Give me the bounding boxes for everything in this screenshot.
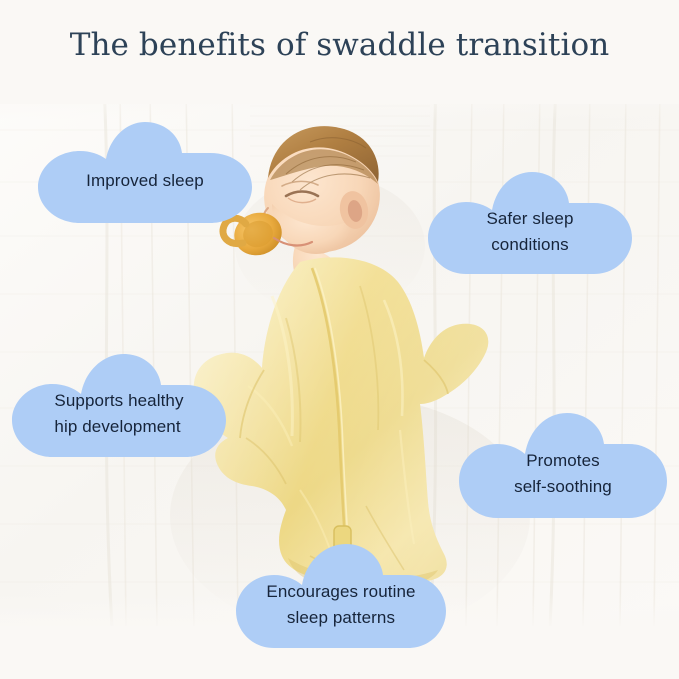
benefit-cloud-safer-sleep[interactable]: Safer sleep conditions [424,168,636,282]
infographic-canvas: The benefits of swaddle transition Impro… [0,0,679,679]
benefit-cloud-encourages-routine[interactable]: Encourages routine sleep patterns [232,540,450,656]
benefit-cloud-improved-sleep[interactable]: Improved sleep [34,118,256,231]
benefit-label: Supports healthy hip development [54,375,183,440]
page-title: The benefits of swaddle transition [70,27,610,63]
benefit-label: Improved sleep [86,156,204,194]
benefit-label: Safer sleep conditions [486,193,573,258]
benefit-cloud-promotes-self-soothing[interactable]: Promotes self-soothing [455,409,671,526]
title-bar: The benefits of swaddle transition [0,0,679,104]
benefit-label: Encourages routine sleep patterns [266,566,415,631]
benefit-label: Promotes self-soothing [514,435,612,500]
benefit-cloud-supports-hips[interactable]: Supports healthy hip development [8,350,230,465]
